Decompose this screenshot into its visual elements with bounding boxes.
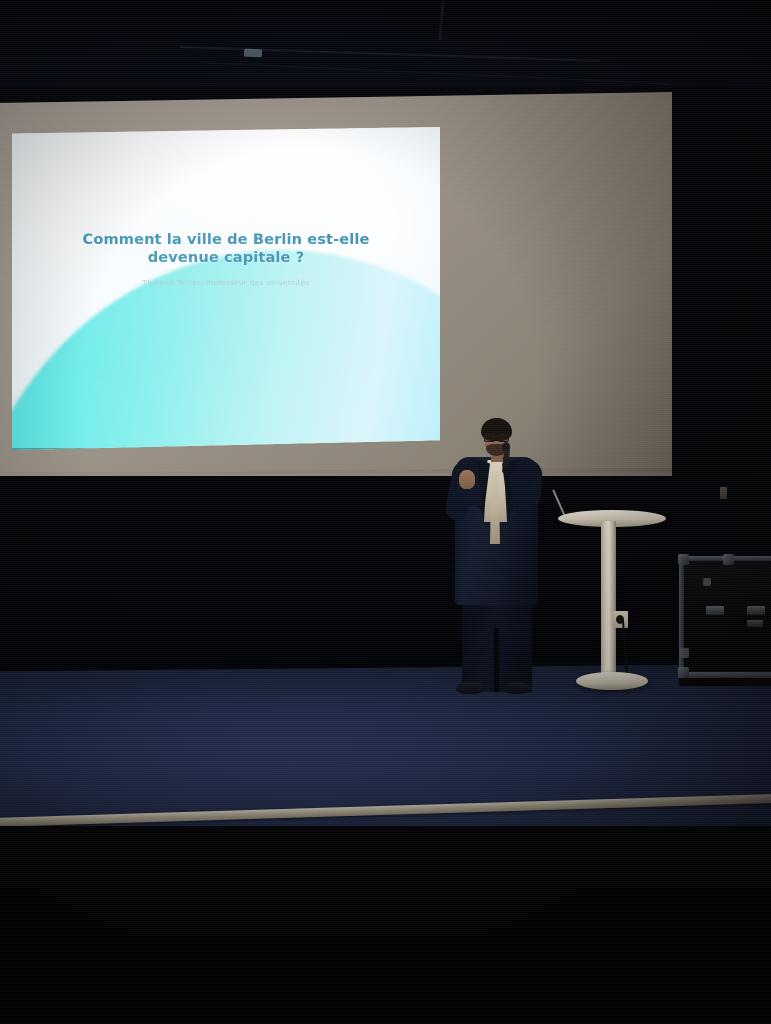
flight-case-corner (678, 667, 689, 678)
glasses-icon (484, 434, 509, 440)
wall-light-icon (720, 487, 727, 499)
flight-case-hardware (679, 648, 689, 658)
flight-case-latch (747, 606, 765, 615)
slide-title-line-1: Comment la ville de Berlin est-elle (83, 231, 370, 248)
stage-front-face (0, 826, 771, 1024)
slide-title: Comment la ville de Berlin est-elle deve… (46, 231, 406, 268)
lower-wall (0, 476, 771, 686)
speaker-leg-separation (494, 628, 499, 692)
projected-slide: Comment la ville de Berlin est-elle deve… (12, 127, 440, 450)
presentation-photo-scene: Comment la ville de Berlin est-elle deve… (0, 0, 771, 1024)
speaker-shoe-right (505, 682, 532, 694)
flight-case-edge (679, 672, 771, 678)
slide-title-line-2: devenue capitale ? (148, 249, 305, 266)
flight-case-latch (747, 620, 763, 627)
ceiling-lamp-icon (244, 49, 262, 58)
lectern-base (576, 672, 648, 690)
microphone-icon (502, 442, 510, 451)
flight-case-edge (679, 556, 684, 678)
glasses-lens-right (498, 434, 509, 442)
slide-text-block: Comment la ville de Berlin est-elle deve… (12, 231, 440, 287)
flight-case-corner (723, 554, 734, 565)
flight-case-corner (678, 554, 689, 565)
lectern-column (601, 521, 616, 681)
speaker-hand-left (459, 470, 475, 489)
speaker-shoe-left (456, 682, 483, 694)
flight-case-latch (706, 606, 724, 615)
slide-subtitle: Thibault Tellier, Professeur des univers… (46, 278, 406, 287)
flight-case-hardware (703, 578, 711, 586)
